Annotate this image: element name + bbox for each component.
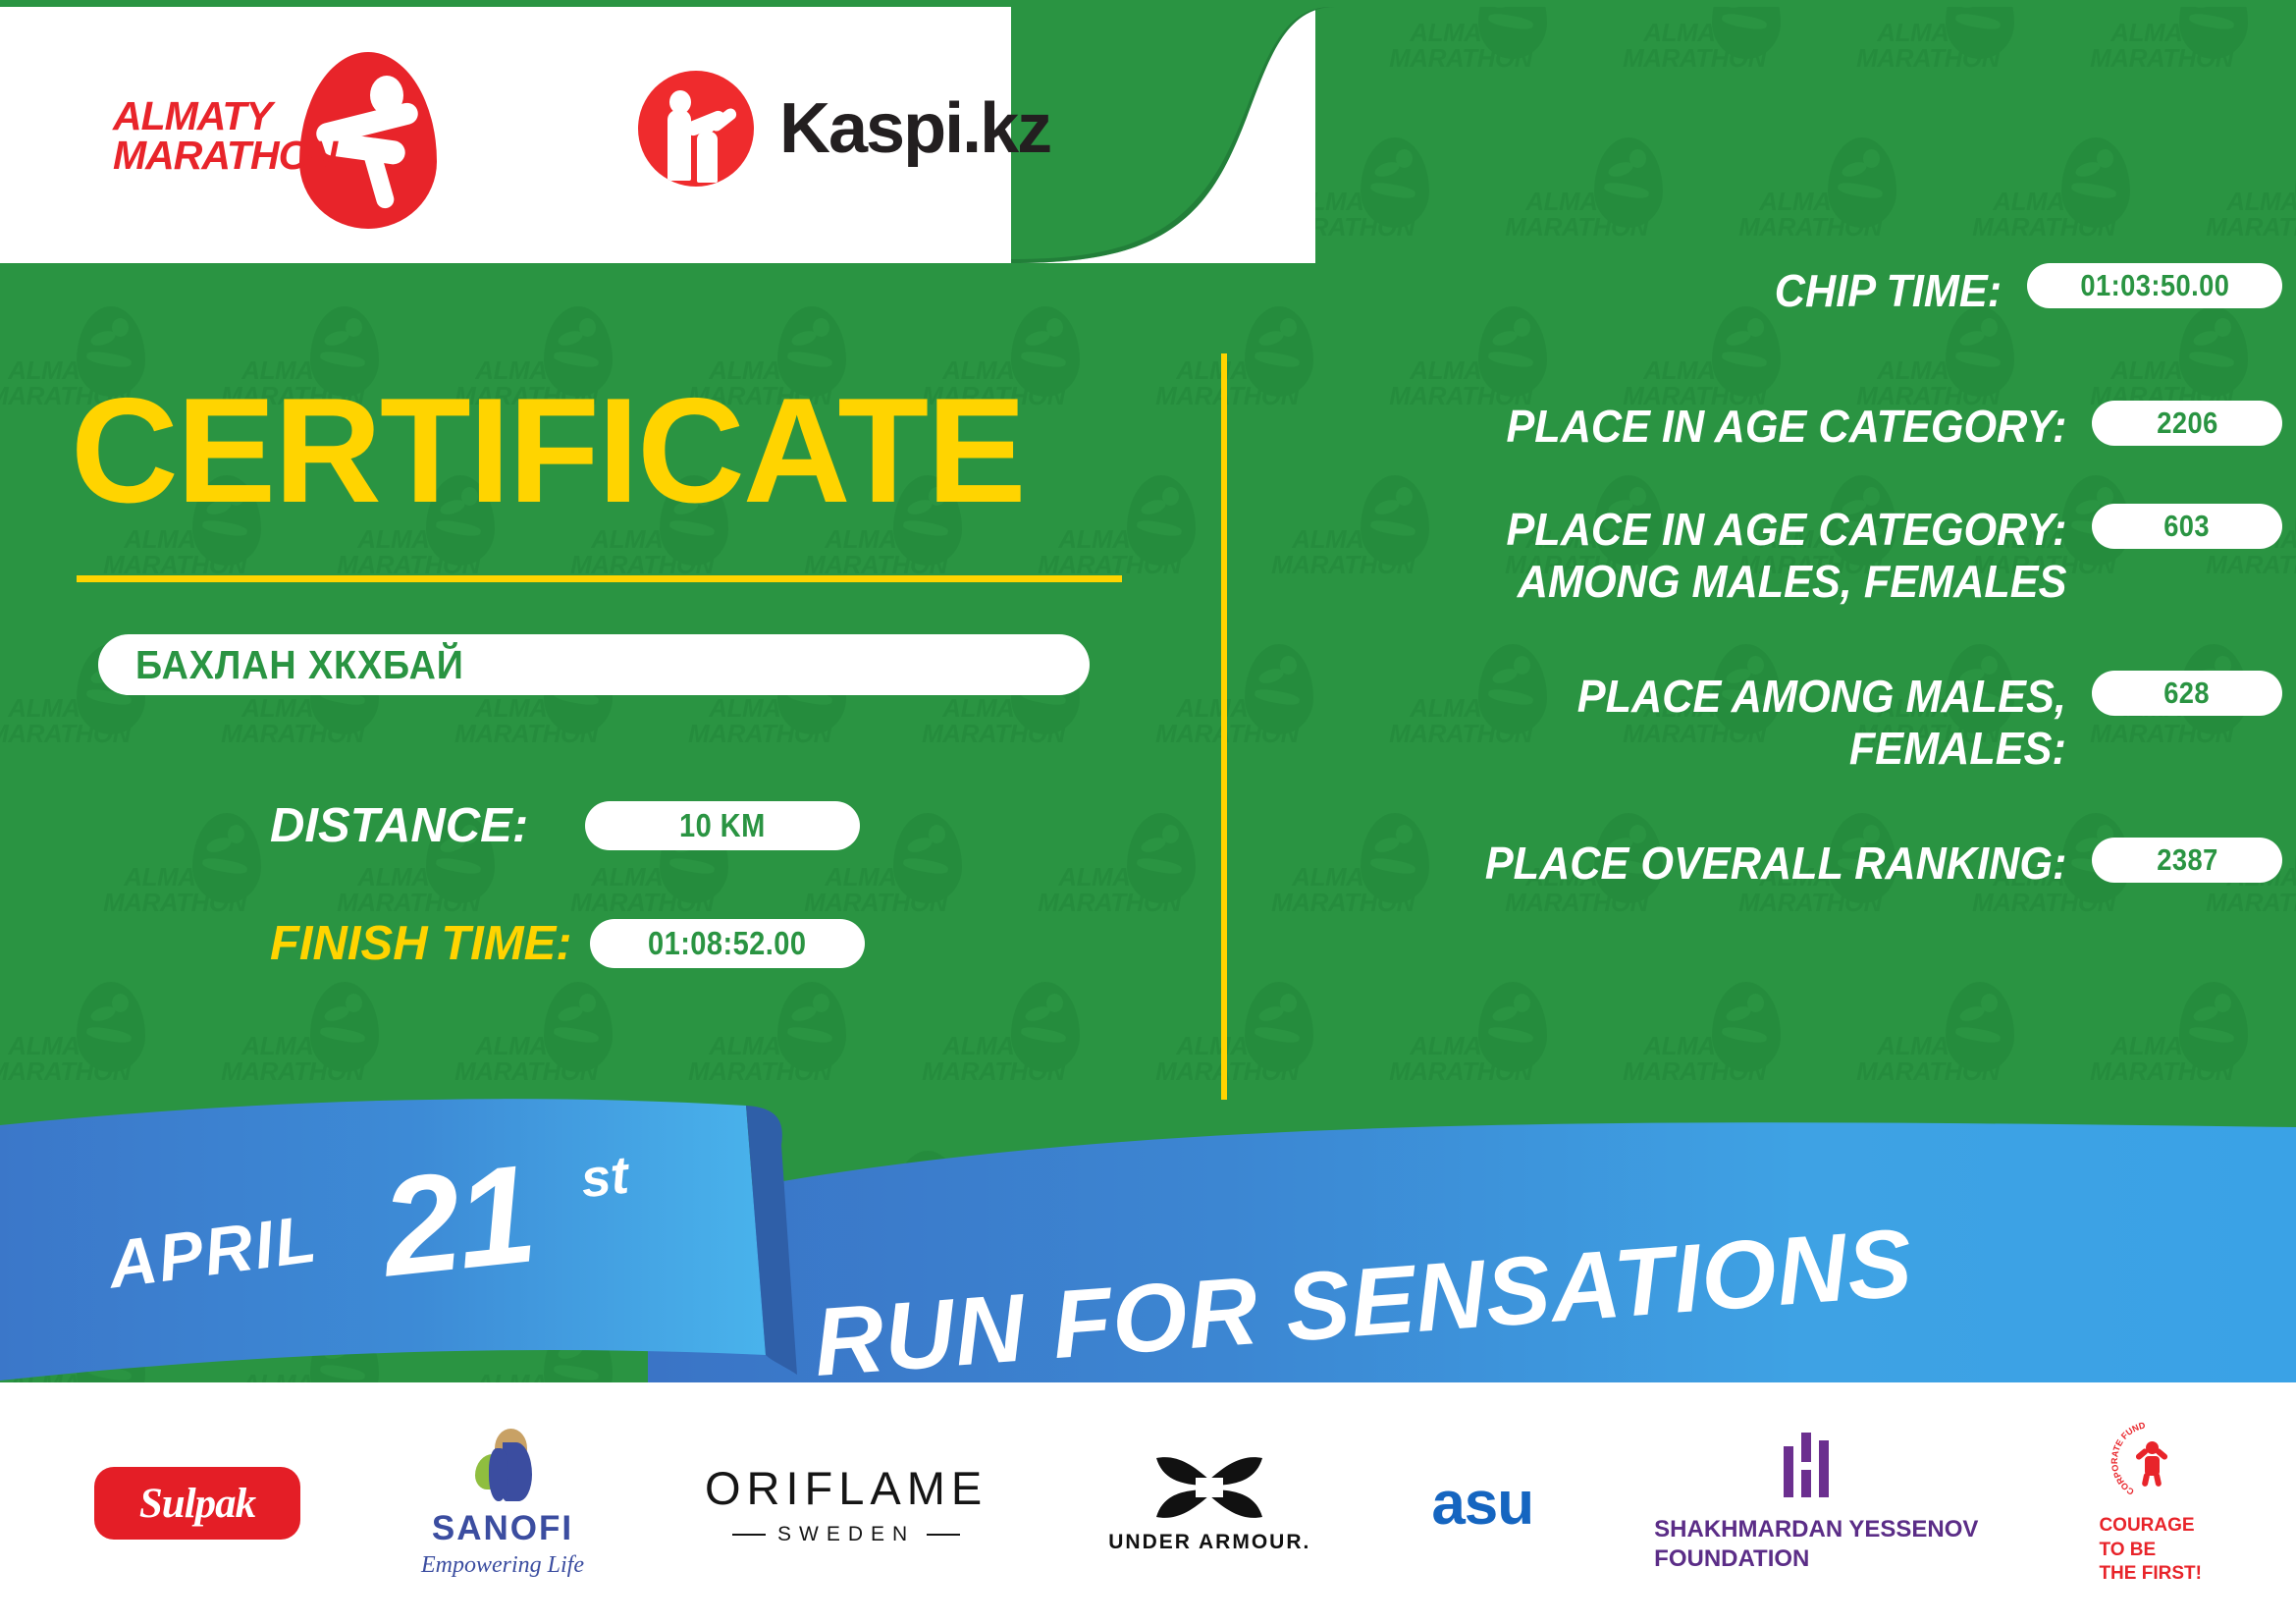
participant-name: БАХЛАН ХКХБАЙ [135, 642, 464, 688]
yessenov-line-2: FOUNDATION [1654, 1545, 1809, 1572]
yessenov-bar-1 [1784, 1446, 1793, 1497]
ribbon-day: 21 [375, 1134, 540, 1310]
place-age-category-gender-value: 603 [2164, 509, 2211, 544]
oriflame-wordmark: ORIFLAME [705, 1461, 988, 1515]
place-among-gender-row: PLACE AMONG MALES, FEMALES: 628 [1232, 671, 2282, 776]
almaty-marathon-wordmark: ALMATY MARATHON [113, 97, 309, 176]
chip-time-value-pill: 01:03:50.00 [2027, 263, 2282, 308]
header-logos: ALMATY MARATHON Kaspi.kz [0, 0, 1178, 257]
kaspi-logo: Kaspi.kz [638, 71, 1050, 187]
yessenov-line-1: SHAKHMARDAN YESSENOV [1654, 1516, 1978, 1543]
place-age-category-value-pill: 2206 [2092, 401, 2282, 446]
distance-label: DISTANCE: [270, 798, 528, 853]
place-age-category-row: PLACE IN AGE CATEGORY: 2206 [1232, 401, 2282, 453]
label-line-2: FEMALES: [1849, 723, 2066, 774]
title-underline [77, 575, 1122, 582]
sponsor-sulpak: Sulpak [94, 1467, 300, 1540]
almaty-marathon-logo: ALMATY MARATHON [113, 50, 437, 207]
finish-time-value: 01:08:52.00 [648, 925, 806, 962]
sanofi-wordmark: SANOFI [432, 1509, 573, 1548]
place-overall-row: PLACE OVERALL RANKING: 2387 [1232, 838, 2282, 890]
place-overall-label: PLACE OVERALL RANKING: [1484, 838, 2066, 890]
sulpak-wordmark: Sulpak [139, 1480, 255, 1528]
under-armour-icon [1147, 1452, 1272, 1523]
logo-line-1: ALMATY [113, 97, 309, 136]
sponsor-list: Sulpak SANOFI Empowering Life ORIFLAME S… [0, 1420, 2296, 1587]
courage-line-2: TO BE [2099, 1540, 2156, 1560]
place-age-category-gender-row: PLACE IN AGE CATEGORY: AMONG MALES, FEMA… [1232, 504, 2282, 609]
label-line-2: AMONG MALES, FEMALES [1517, 556, 2066, 607]
yessenov-bar-4 [1819, 1440, 1829, 1497]
finish-time-label: FINISH TIME: [270, 916, 572, 971]
kaspi-adult-body [667, 110, 691, 181]
sponsor-courage-fund: CORPORATE FUND COURAGE TO BE [2099, 1420, 2202, 1587]
page-title: CERTIFICATE [71, 376, 1025, 525]
distance-value: 10 KM [679, 807, 766, 844]
sponsor-sanofi: SANOFI Empowering Life [421, 1429, 584, 1579]
place-among-gender-value: 628 [2164, 676, 2211, 711]
courage-fund-wordmark: COURAGE TO BE THE FIRST! [2099, 1514, 2202, 1587]
watermark-runner-icon [2061, 137, 2130, 228]
certificate-page: ALMATYMARATHONALMATYMARATHONALMATYMARATH… [0, 0, 2296, 1624]
yessenov-icon [1784, 1433, 1848, 1497]
top-stripe [0, 0, 2296, 7]
distance-row: DISTANCE: 10 KM [270, 798, 860, 853]
sponsor-oriflame: ORIFLAME SWEDEN [705, 1461, 988, 1546]
place-age-category-label: PLACE IN AGE CATEGORY: [1506, 401, 2066, 453]
asu-wordmark: asu [1431, 1469, 1533, 1539]
label-line-1: PLACE IN AGE CATEGORY: [1506, 504, 2066, 555]
place-among-gender-label: PLACE AMONG MALES, FEMALES: [1577, 671, 2066, 776]
sponsor-yessenov-foundation: SHAKHMARDAN YESSENOV FOUNDATION [1654, 1433, 1978, 1574]
place-among-gender-value-pill: 628 [2092, 671, 2282, 716]
kaspi-people-icon [638, 71, 754, 187]
watermark-text: ALMATYMARATHON [2179, 189, 2296, 240]
oriflame-subline: SWEDEN [732, 1523, 960, 1546]
ribbon-day-suffix: st [578, 1145, 631, 1211]
sanofi-shape-blue-2 [489, 1448, 508, 1501]
oriflame-rule-left [732, 1534, 766, 1536]
kaspi-child-arm [708, 106, 738, 134]
chip-time-value: 01:03:50.00 [2080, 268, 2229, 303]
kaspi-child-body [697, 132, 718, 183]
sponsor-asu: asu [1431, 1469, 1533, 1539]
place-overall-value-pill: 2387 [2092, 838, 2282, 883]
oriflame-country: SWEDEN [777, 1523, 915, 1546]
under-armour-wordmark: UNDER ARMOUR. [1108, 1531, 1310, 1554]
column-divider [1221, 353, 1227, 1100]
label-line-1: PLACE AMONG MALES, [1577, 671, 2066, 722]
sulpak-logo: Sulpak [94, 1467, 300, 1540]
chip-time-label: CHIP TIME: [1775, 263, 2002, 317]
ua-glyph [1147, 1452, 1272, 1523]
courage-person-figure [2139, 1441, 2164, 1485]
sponsor-under-armour: UNDER ARMOUR. [1108, 1452, 1310, 1554]
yessenov-bar-3 [1801, 1470, 1811, 1497]
place-age-category-gender-value-pill: 603 [2092, 504, 2282, 549]
watermark-runner-icon [1594, 137, 1663, 228]
courage-line-3: THE FIRST! [2099, 1563, 2202, 1584]
courage-fund-icon: CORPORATE FUND [2109, 1420, 2192, 1502]
finish-time-row: FINISH TIME: 01:08:52.00 [270, 916, 865, 971]
place-age-category-gender-label: PLACE IN AGE CATEGORY: AMONG MALES, FEMA… [1506, 504, 2066, 609]
courage-line-1: COURAGE [2099, 1515, 2194, 1536]
yessenov-wordmark: SHAKHMARDAN YESSENOV FOUNDATION [1654, 1515, 1978, 1574]
place-overall-value: 2387 [2157, 842, 2217, 878]
distance-value-pill: 10 KM [585, 801, 860, 850]
watermark-runner-icon [1828, 137, 1896, 228]
yessenov-bar-2 [1801, 1433, 1811, 1462]
oriflame-rule-right [927, 1534, 960, 1536]
finish-time-value-pill: 01:08:52.00 [590, 919, 865, 968]
sanofi-icon [467, 1429, 538, 1503]
place-age-category-value: 2206 [2157, 406, 2217, 441]
sponsor-footer: Sulpak SANOFI Empowering Life ORIFLAME S… [0, 1382, 2296, 1624]
sanofi-tagline: Empowering Life [421, 1552, 584, 1579]
logo-line-2: MARATHON [113, 136, 309, 176]
kaspi-wordmark: Kaspi.kz [779, 88, 1050, 169]
participant-name-field: БАХЛАН ХКХБАЙ [98, 634, 1090, 695]
